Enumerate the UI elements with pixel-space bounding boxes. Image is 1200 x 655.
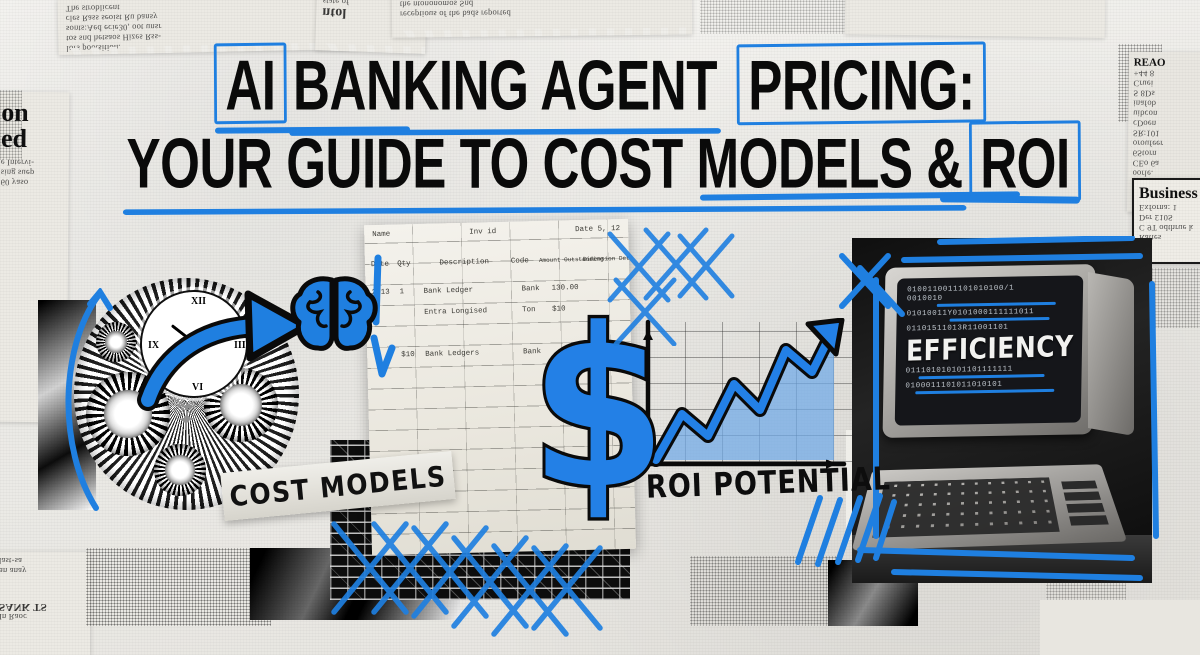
crt-side-panel: [1088, 272, 1134, 436]
title-ai-text: AI: [225, 46, 275, 125]
title-banking-agent: BANKING AGENT: [293, 52, 717, 119]
ledger-header: Amount Outstanding: [539, 256, 581, 265]
clock-hand-minute: [195, 323, 233, 345]
blue-crosshatch-accent-upper: [606, 226, 736, 346]
roman-numeral-vi: VI: [192, 382, 203, 393]
news-line: C 9T odthrue k: [1139, 223, 1200, 233]
news-line: last-sa: [0, 556, 85, 566]
ledger-header: Code: [511, 257, 537, 266]
ledger-name-field: Name: [372, 231, 390, 239]
newspaper-scrap-bottom-left: last-sa an anay SANK TS In Raoc: [0, 552, 90, 655]
crt-screen: 0100110011101010100/1 0010010 01010011Y0…: [895, 275, 1084, 425]
computer-keyboard: [852, 464, 1127, 550]
roman-numeral-ix: IX: [148, 340, 159, 351]
title-guide-text: YOUR GUIDE TO COST MODELS &: [127, 130, 963, 197]
news-line: Exforna: 1: [1139, 203, 1200, 213]
halftone-strip-top: [700, 0, 850, 34]
gear-icon: [96, 322, 136, 362]
newspaper-scrap-top-right: the ntononomos Snd receptious of the bad…: [392, 0, 692, 38]
blue-crosshatch-accent: [328, 520, 628, 650]
blue-underline-stroke: [940, 195, 1080, 203]
crt-computer-photo: 0100110011101010100/1 0010010 01010011Y0…: [852, 238, 1152, 583]
keyboard-numpad: [1061, 479, 1109, 526]
ledger-header: Qty: [397, 260, 418, 268]
news-line: receptious of the bads reported: [400, 7, 684, 20]
crt-bezel: 0100110011101010100/1 0010010 01010011Y0…: [883, 264, 1096, 438]
halftone-photo-bottom-left: [86, 548, 271, 626]
gear-icon: [154, 444, 206, 496]
ledger-invoice-field: Inv id: [469, 228, 496, 237]
clock-center-pin: [191, 341, 197, 347]
roman-numeral-xii: XII: [191, 296, 206, 307]
paper-scrap-bottom-far-right: [1040, 600, 1200, 655]
title-line-2: YOUR GUIDE TO COST MODELS & ROI: [42, 130, 1158, 197]
news-headline: SANK TS: [0, 602, 85, 612]
news-line: Der £10S: [1139, 213, 1200, 223]
title-ai-boxed: AI: [222, 52, 280, 119]
news-line: an anay: [0, 566, 85, 576]
title-line-1: AI BANKING AGENT PRICING:: [42, 52, 1158, 119]
newspaper-scrap-top-far-right: [845, 0, 1106, 38]
clock-face: XII III VI IX: [140, 290, 248, 398]
title-roi-boxed: ROI: [976, 130, 1073, 197]
news-line: In Raoc: [0, 612, 85, 622]
binary-line: 011101010101101111111: [906, 365, 1072, 376]
brain-icon: [288, 272, 380, 356]
halftone-patch-bottom-right: [690, 556, 840, 626]
screen-accent-bar: [950, 317, 1050, 322]
ledger-header: Date: [371, 261, 395, 270]
roman-numeral-iii: III: [234, 340, 246, 351]
page-title: AI BANKING AGENT PRICING: YOUR GUIDE TO …: [0, 52, 1200, 183]
efficiency-label: EFFICIENCY: [906, 329, 1072, 367]
collage-canvas: The stroblicent cles Rass seoist Ru bans…: [0, 0, 1200, 655]
keyboard-keys: [872, 477, 1059, 537]
title-pricing-boxed: PRICING:: [744, 52, 978, 119]
